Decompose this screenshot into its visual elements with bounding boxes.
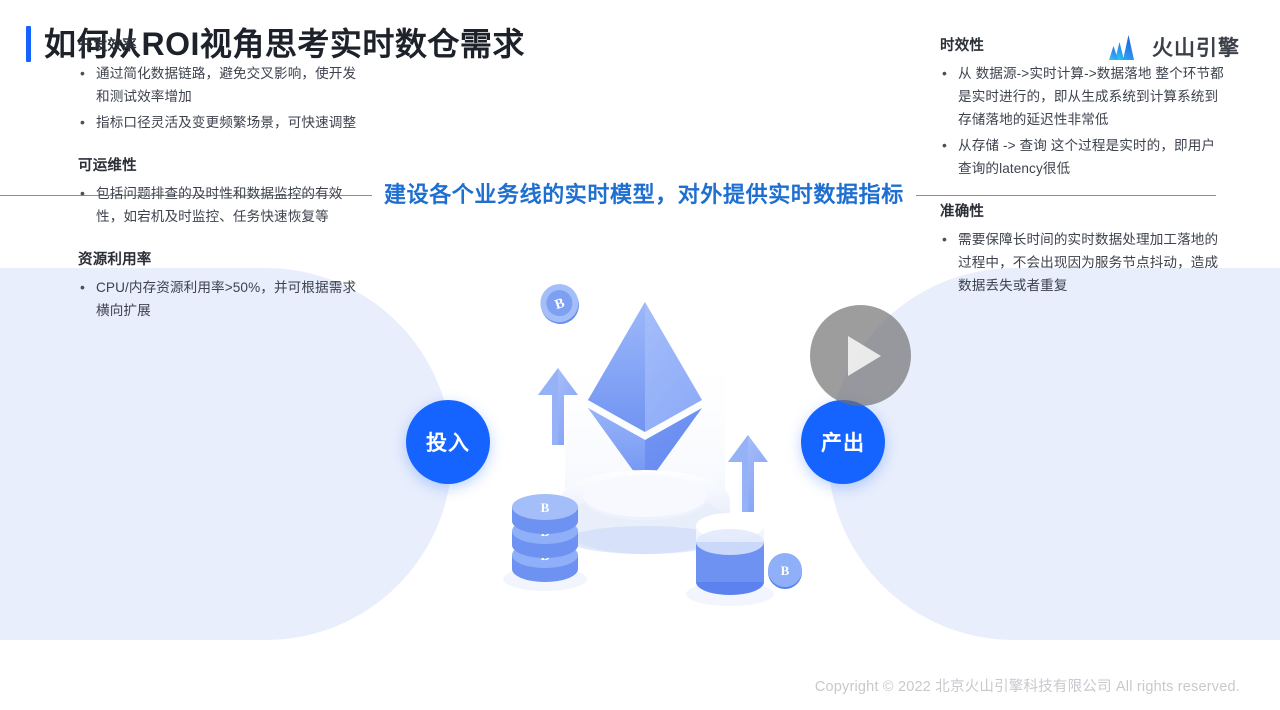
- group-dev-efficiency: 开发效率 通过简化数据链路，避免交叉影响，使开发和测试效率增加 指标口径灵活及变…: [78, 36, 368, 134]
- group-resource-utilization: 资源利用率 CPU/内存资源利用率>50%，并可根据需求横向扩展: [78, 250, 368, 322]
- ethereum-podium-crypto-illustration: B B: [470, 272, 820, 622]
- bullet-list: 从 数据源->实时计算->数据落地 整个环节都是实时进行的，即从生成系统到计算系…: [940, 62, 1225, 180]
- svg-text:B: B: [541, 500, 550, 515]
- list-item: 需要保障长时间的实时数据处理加工落地的过程中，不会出现因为服务节点抖动，造成数据…: [940, 228, 1225, 297]
- copyright-footer: Copyright © 2022 北京火山引擎科技有限公司 All rights…: [815, 675, 1240, 696]
- list-item: 通过简化数据链路，避免交叉影响，使开发和测试效率增加: [78, 62, 368, 108]
- group-operability: 可运维性 包括问题排查的及时性和数据监控的有效性，如宕机及时监控、任务快速恢复等: [78, 156, 368, 228]
- group-title: 资源利用率: [78, 250, 368, 271]
- group-timeliness: 时效性 从 数据源->实时计算->数据落地 整个环节都是实时进行的，即从生成系统…: [940, 36, 1225, 180]
- list-item: 指标口径灵活及变更频繁场景，可快速调整: [78, 111, 368, 134]
- list-item: 从存储 -> 查询 这个过程是实时的，即用户查询的latency很低: [940, 134, 1225, 180]
- right-content-column: 时效性 从 数据源->实时计算->数据落地 整个环节都是实时进行的，即从生成系统…: [940, 36, 1225, 300]
- list-item: CPU/内存资源利用率>50%，并可根据需求横向扩展: [78, 276, 368, 322]
- play-icon: [848, 336, 881, 376]
- group-title: 开发效率: [78, 36, 368, 57]
- play-button-overlay[interactable]: [810, 305, 911, 406]
- group-title: 可运维性: [78, 156, 368, 177]
- badge-output[interactable]: 产出: [801, 400, 885, 484]
- subtitle-label: 建设各个业务线的实时模型，对外提供实时数据指标: [378, 180, 910, 210]
- bullet-list: 包括问题排查的及时性和数据监控的有效性，如宕机及时监控、任务快速恢复等: [78, 182, 368, 228]
- list-item: 从 数据源->实时计算->数据落地 整个环节都是实时进行的，即从生成系统到计算系…: [940, 62, 1225, 131]
- left-content-column: 开发效率 通过简化数据链路，避免交叉影响，使开发和测试效率增加 指标口径灵活及变…: [78, 36, 368, 325]
- bullet-list: CPU/内存资源利用率>50%，并可根据需求横向扩展: [78, 276, 368, 322]
- svg-text:B: B: [781, 563, 790, 578]
- list-item: 包括问题排查的及时性和数据监控的有效性，如宕机及时监控、任务快速恢复等: [78, 182, 368, 228]
- group-title: 准确性: [940, 202, 1225, 223]
- bullet-list: 需要保障长时间的实时数据处理加工落地的过程中，不会出现因为服务节点抖动，造成数据…: [940, 228, 1225, 297]
- title-accent-bar: [26, 26, 31, 62]
- bullet-list: 通过简化数据链路，避免交叉影响，使开发和测试效率增加 指标口径灵活及变更频繁场景…: [78, 62, 368, 134]
- slide-root: 如何从ROI视角思考实时数仓需求: [0, 0, 1280, 710]
- badge-input[interactable]: 投入: [406, 400, 490, 484]
- group-title: 时效性: [940, 36, 1225, 57]
- group-accuracy: 准确性 需要保障长时间的实时数据处理加工落地的过程中，不会出现因为服务节点抖动，…: [940, 202, 1225, 297]
